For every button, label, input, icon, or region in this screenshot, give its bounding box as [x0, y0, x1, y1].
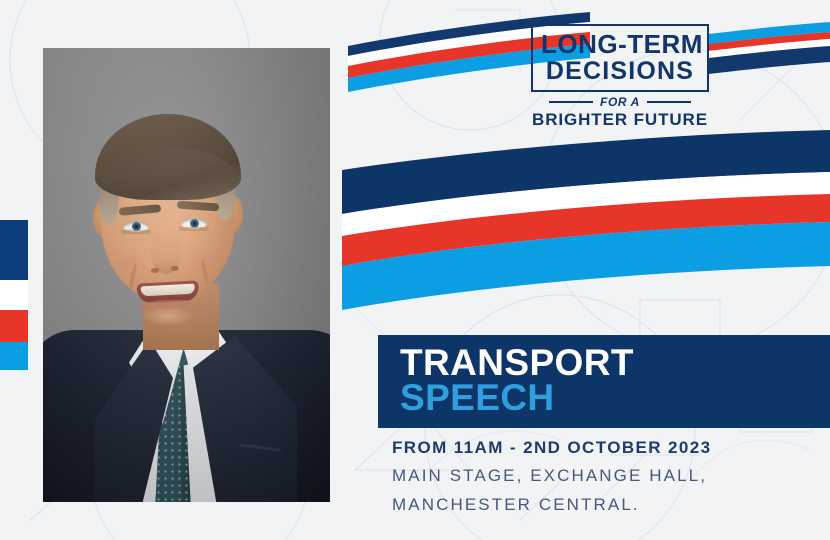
- ribbon-band-white: [0, 280, 28, 310]
- ribbon-band-navy: [0, 220, 28, 280]
- main-ribbon-graphic: [338, 128, 830, 310]
- event-venue-line-2: MANCHESTER CENTRAL.: [392, 492, 711, 517]
- logo-rule-right: [647, 101, 691, 103]
- logo-line-long-term: LONG-TERM: [541, 31, 699, 57]
- page-subtitle: SPEECH: [400, 379, 555, 417]
- headline-panel: TRANSPORT SPEECH: [378, 335, 830, 428]
- promo-card: LONG-TERM DECISIONS FOR A BRIGHTER FUTUR…: [0, 0, 830, 540]
- logo-for-a-row: FOR A: [531, 95, 709, 109]
- portrait-vignette: [43, 48, 330, 502]
- speaker-portrait: [43, 48, 330, 502]
- ribbon-band-red: [0, 310, 28, 342]
- logo-line-brighter-future: BRIGHTER FUTURE: [531, 111, 709, 129]
- ribbon-band-light-blue: [0, 342, 28, 370]
- logo-line-for-a: FOR A: [600, 95, 640, 109]
- left-edge-ribbon: [0, 220, 28, 370]
- logo-box: LONG-TERM DECISIONS: [531, 24, 709, 92]
- logo-rule-left: [549, 101, 593, 103]
- event-time-date: FROM 11AM - 2ND OCTOBER 2023: [392, 437, 711, 459]
- event-venue-line-1: MAIN STAGE, EXCHANGE HALL,: [392, 463, 711, 488]
- event-details: FROM 11AM - 2ND OCTOBER 2023 MAIN STAGE,…: [392, 437, 711, 517]
- campaign-logo: LONG-TERM DECISIONS FOR A BRIGHTER FUTUR…: [531, 24, 709, 112]
- logo-line-decisions: DECISIONS: [541, 58, 699, 84]
